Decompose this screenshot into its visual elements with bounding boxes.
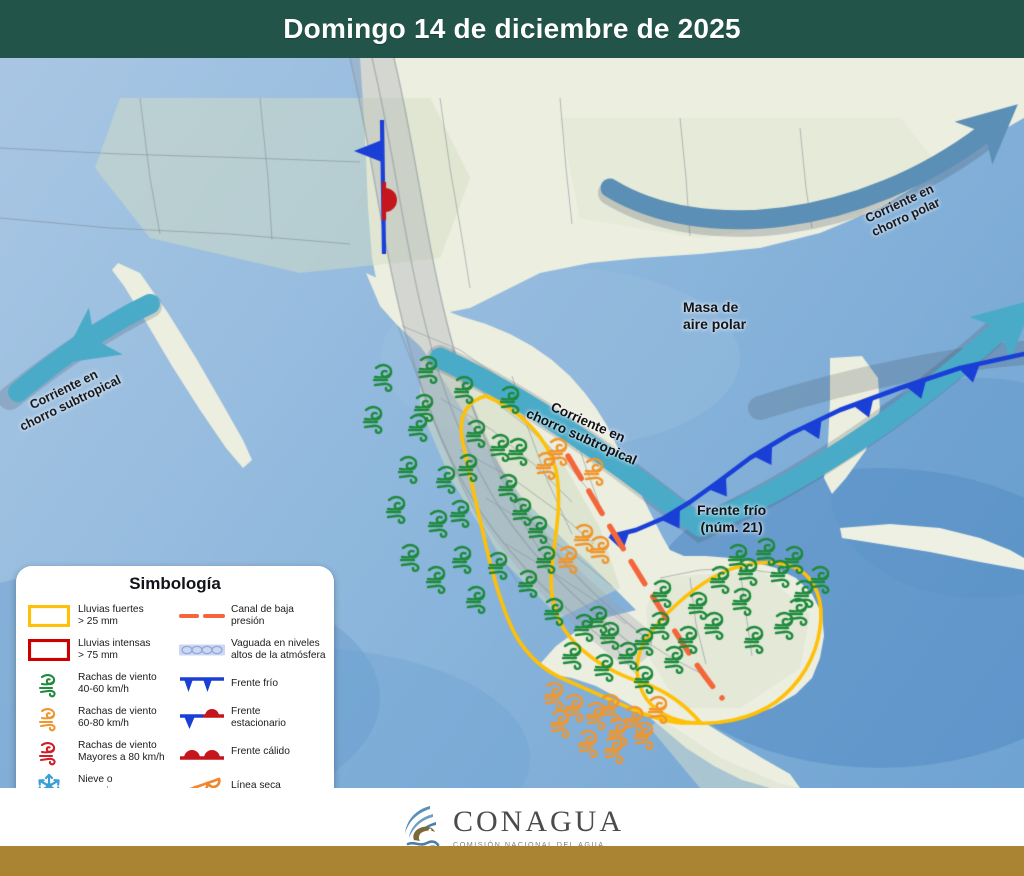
legend-item-label: Vaguada en niveles altos de la atmósfera: [231, 638, 326, 662]
legend-item-label: Frente cálido: [231, 746, 290, 758]
header-banner: Domingo 14 de diciembre de 2025: [0, 0, 1024, 58]
legend-title: Simbología: [22, 574, 328, 594]
weather-map-page: Domingo 14 de diciembre de 2025 Masa de …: [0, 0, 1024, 876]
wind-gust-green-icon: [26, 669, 72, 699]
rain-intense-box-icon: [26, 635, 72, 665]
legend-item-label: Rachas de viento Mayores a 80 km/h: [78, 740, 165, 764]
legend-item-wind-gust-green: Rachas de viento 40-60 km/h: [22, 667, 175, 701]
legend-item-label: Frente estacionario: [231, 706, 286, 730]
upper-level-trough-icon: [179, 635, 225, 665]
legend-item-label: Nieve o aguanieve: [78, 774, 125, 788]
legend-item-low-pressure-channel: Canal de baja presión: [175, 599, 328, 633]
snow-sleet-icon: [26, 771, 72, 788]
legend-item-label: Rachas de viento 40-60 km/h: [78, 672, 157, 696]
page-title: Domingo 14 de diciembre de 2025: [283, 13, 740, 45]
legend-column-left: Lluvias fuertes > 25 mmLluvias intensas …: [22, 599, 175, 788]
legend-item-cold-front: Frente frío: [175, 667, 328, 701]
legend-item-snow-sleet: Nieve o aguanieve: [22, 769, 175, 788]
legend-item-rain-heavy-box: Lluvias fuertes > 25 mm: [22, 599, 175, 633]
cold-front-icon: [179, 669, 225, 699]
legend-item-label: Línea seca: [231, 780, 281, 788]
wind-gust-red-icon: [26, 737, 72, 767]
legend-item-wind-gust-orange: Rachas de viento 60-80 km/h: [22, 701, 175, 735]
legend-panel[interactable]: Simbología Lluvias fuertes > 25 mmLluvia…: [16, 566, 334, 788]
legend-item-dry-line: Línea seca: [175, 769, 328, 788]
footer-gold-bar: [0, 846, 1024, 876]
wind-gust-orange-icon: [26, 703, 72, 733]
logo-name: CONAGUA: [453, 807, 624, 837]
legend-item-label: Rachas de viento 60-80 km/h: [78, 706, 157, 730]
legend-item-label: Lluvias intensas > 75 mm: [78, 638, 151, 662]
legend-item-stationary-front: Frente estacionario: [175, 701, 328, 735]
legend-item-label: Lluvias fuertes > 25 mm: [78, 604, 144, 628]
legend-item-label: Canal de baja presión: [231, 604, 294, 628]
legend-column-right: Canal de baja presiónVaguada en niveles …: [175, 599, 328, 788]
stationary-front-icon: [179, 703, 225, 733]
legend-item-label: Frente frío: [231, 678, 278, 690]
legend-item-rain-intense-box: Lluvias intensas > 75 mm: [22, 633, 175, 667]
dry-line-icon: [179, 771, 225, 788]
legend-item-warm-front: Frente cálido: [175, 735, 328, 769]
weather-map[interactable]: Masa de aire polar Frente frío (núm. 21)…: [0, 58, 1024, 788]
warm-front-icon: [179, 737, 225, 767]
low-pressure-channel-icon: [179, 601, 225, 631]
legend-item-wind-gust-red: Rachas de viento Mayores a 80 km/h: [22, 735, 175, 769]
rain-heavy-box-icon: [26, 601, 72, 631]
legend-item-upper-level-trough: Vaguada en niveles altos de la atmósfera: [175, 633, 328, 667]
